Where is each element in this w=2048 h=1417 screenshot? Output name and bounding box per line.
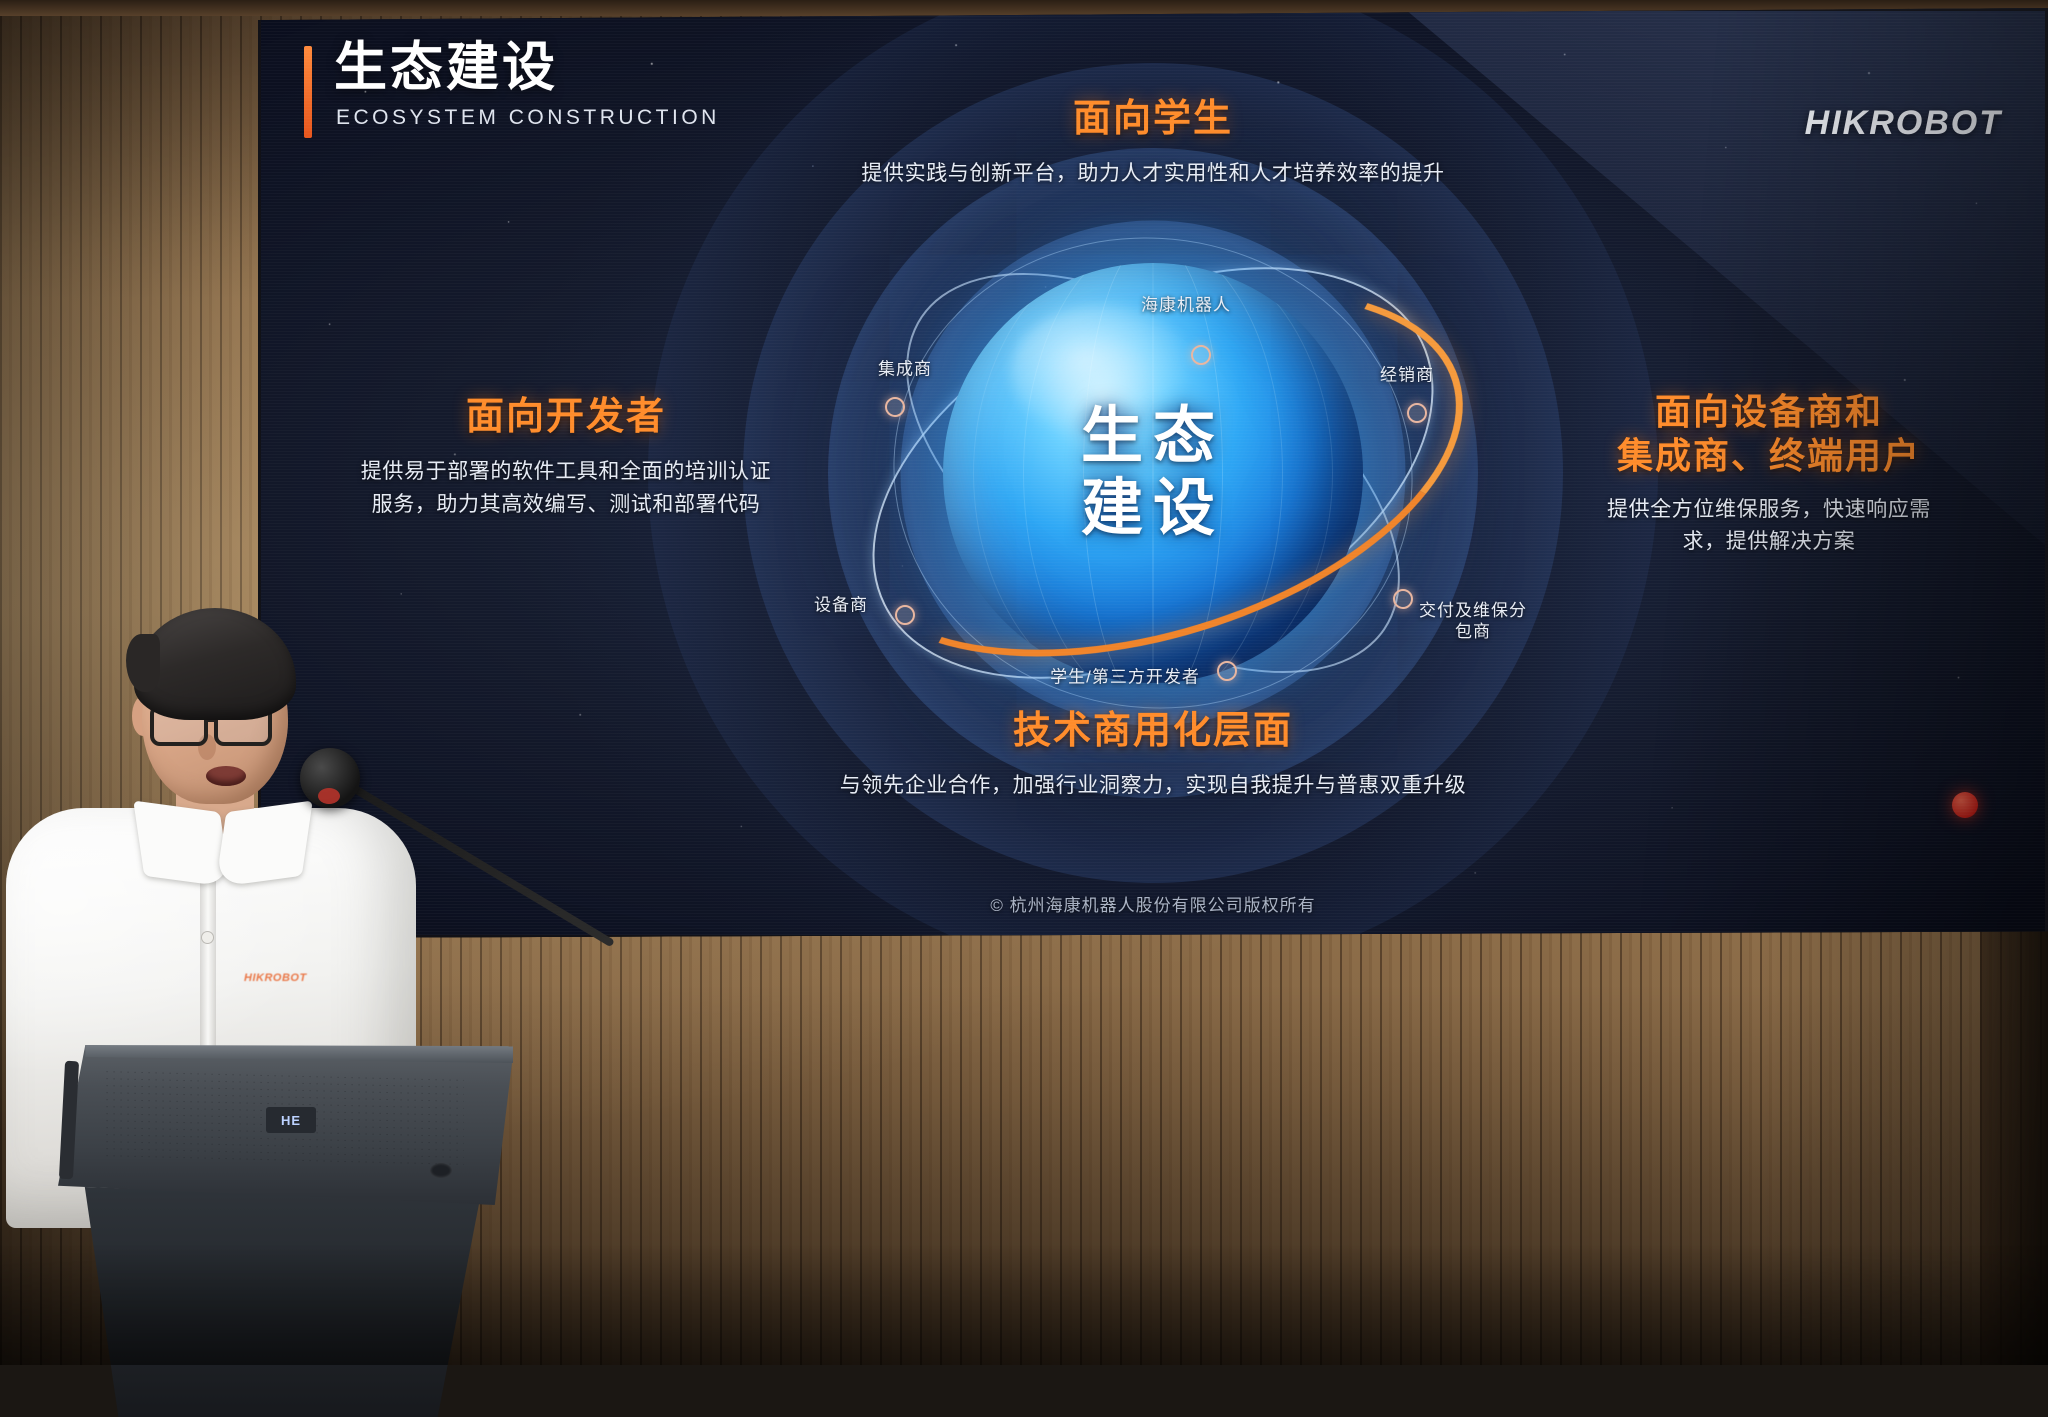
block-vendors-heading-line-1: 面向设备商和: [1534, 390, 2004, 434]
presenter-mouth: [206, 766, 246, 786]
podium-brand-badge: HE: [266, 1107, 316, 1133]
presenter-shirt-button-1: [202, 932, 213, 943]
block-commercialization-heading: 技术商用化层面: [763, 708, 1543, 754]
lectern-podium: HE: [58, 1045, 513, 1365]
block-developers-body-line-2: 服务，助力其高效编写、测试和部署代码: [326, 489, 806, 522]
orbit-node-label-service-subcontractor: 交付及维保分 包商: [1419, 600, 1527, 643]
slide-header: 生态建设 ECOSYSTEM CONSTRUCTION: [304, 40, 720, 130]
copyright-notice: © 杭州海康机器人股份有限公司版权所有: [990, 891, 1315, 916]
block-vendors-heading-line-2: 集成商、终端用户: [1534, 434, 2004, 478]
block-vendors-body-line-1: 提供全方位维保服务，快速响应需: [1534, 494, 2004, 527]
orbit-node-label-equipment-vendor: 设备商: [814, 594, 868, 615]
block-students-body: 提供实践与创新平台，助力人才实用性和人才培养效率的提升: [773, 158, 1533, 191]
block-commercialization: 技术商用化层面 与领先企业合作，加强行业洞察力，实现自我提升与普惠双重升级: [763, 708, 1543, 803]
sphere-center-line-1: 生态: [1081, 406, 1225, 468]
presenter-collar-left: [133, 801, 231, 888]
presentation-screen: 生态 建设 海康机器人 集成商 经销商 设备商 交付及维保分 包商 学生/第三方…: [258, 8, 2048, 938]
presenter-hair: [134, 608, 296, 720]
block-students: 面向学生 提供实践与创新平台，助力人才实用性和人才培养效率的提升: [773, 96, 1533, 191]
podium-body: [68, 1187, 488, 1417]
orbit-node-equipment-vendor: [895, 605, 915, 625]
presenter-shirt-logo: HIKROBOT: [244, 972, 328, 987]
sphere-center-label: 生态 建设: [943, 263, 1363, 683]
orbit-node-label-student-developer: 学生/第三方开发者: [1050, 666, 1200, 687]
record-dot-icon: [1952, 792, 1978, 818]
title-accent-bar: [304, 46, 312, 138]
podium-knob: [430, 1163, 452, 1178]
block-developers-heading: 面向开发者: [326, 394, 806, 440]
podium-top-panel: HE: [58, 1045, 513, 1205]
orbit-node-integrator: [885, 397, 905, 417]
orbit-node-student-developer: [1217, 661, 1237, 681]
hikrobot-logo: HIKROBOT: [1805, 104, 2002, 143]
block-developers-body-line-1: 提供易于部署的软件工具和全面的培训认证: [326, 456, 806, 489]
orbit-node-label-distributor: 经销商: [1380, 364, 1434, 385]
presenter-collar-right: [215, 801, 313, 888]
microphone-accent-ring: [318, 788, 340, 804]
orbit-node-distributor: [1407, 403, 1427, 423]
orbit-node-hikrobot: [1191, 345, 1211, 365]
page-subtitle: ECOSYSTEM CONSTRUCTION: [336, 106, 720, 130]
block-vendors-body-line-2: 求，提供解决方案: [1534, 526, 2004, 559]
block-commercialization-body: 与领先企业合作，加强行业洞察力，实现自我提升与普惠双重升级: [763, 770, 1543, 803]
block-students-heading: 面向学生: [773, 96, 1533, 142]
orbit-node-label-integrator: 集成商: [878, 358, 932, 379]
page-title: 生态建设: [334, 40, 720, 96]
slide-canvas: 生态 建设 海康机器人 集成商 经销商 设备商 交付及维保分 包商 学生/第三方…: [258, 8, 2048, 938]
block-developers: 面向开发者 提供易于部署的软件工具和全面的培训认证 服务，助力其高效编写、测试和…: [326, 394, 806, 521]
block-vendors-integrators: 面向设备商和 集成商、终端用户 提供全方位维保服务，快速响应需 求，提供解决方案: [1534, 390, 2004, 559]
orbit-node-label-hikrobot: 海康机器人: [1141, 294, 1231, 315]
sphere-center-line-2: 建设: [1081, 478, 1225, 540]
orbit-node-service-subcontractor: [1393, 589, 1413, 609]
ecosystem-sphere: 生态 建设: [943, 263, 1363, 683]
